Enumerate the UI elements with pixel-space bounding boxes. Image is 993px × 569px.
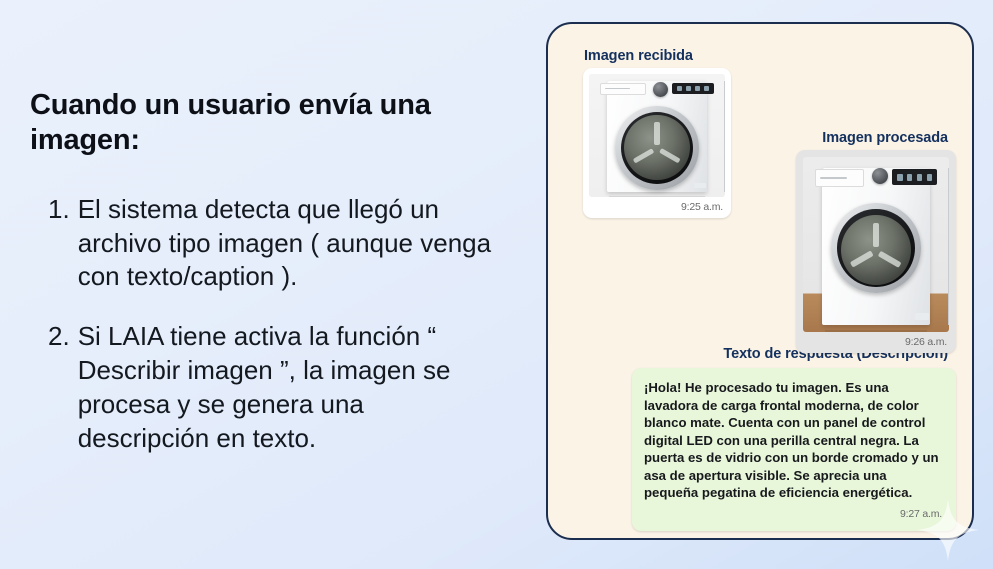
message-text: ¡Hola! He procesado tu imagen. Es una la… (644, 380, 939, 500)
step-text: El sistema detecta que llegó un archivo … (78, 193, 500, 294)
message-timestamp: 9:26 a.m. (803, 332, 949, 351)
steps-list: 1. El sistema detecta que llegó un archi… (30, 193, 500, 456)
washing-machine-image-processed[interactable] (803, 157, 949, 332)
washing-machine-image[interactable] (589, 74, 725, 197)
chat-mockup-panel: Imagen recibida Imagen procesada Texto d… (546, 22, 974, 540)
step-number: 1. (48, 193, 70, 227)
list-item: 2. Si LAIA tiene activa la función “ Des… (48, 320, 500, 455)
slide-text-column: Cuando un usuario envía una imagen: 1. E… (0, 0, 530, 569)
message-bubble-processed-image[interactable]: 9:26 a.m. (796, 150, 956, 353)
message-timestamp: 9:25 a.m. (589, 197, 725, 216)
label-imagen-procesada: Imagen procesada (822, 130, 948, 146)
label-imagen-recibida: Imagen recibida (584, 48, 693, 64)
sparkle-icon (917, 499, 979, 561)
page-title: Cuando un usuario envía una imagen: (30, 88, 450, 159)
message-bubble-received-image[interactable]: 9:25 a.m. (583, 68, 731, 218)
list-item: 1. El sistema detecta que llegó un archi… (48, 193, 500, 294)
step-number: 2. (48, 320, 70, 354)
step-text: Si LAIA tiene activa la función “ Descri… (78, 320, 500, 455)
message-bubble-description-text[interactable]: ¡Hola! He procesado tu imagen. Es una la… (632, 368, 956, 531)
